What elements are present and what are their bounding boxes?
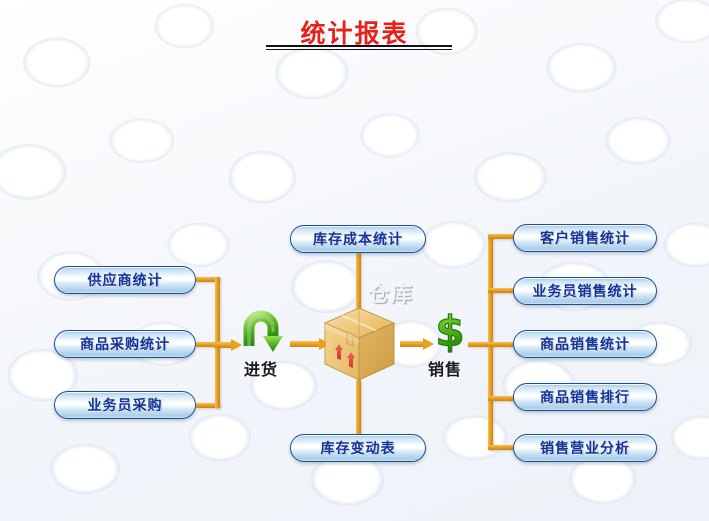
title-underline-rule xyxy=(266,45,452,50)
button-salesperson-purchase[interactable]: 业务员采购 xyxy=(54,391,196,419)
connector-warehouse-to-bottom xyxy=(356,380,361,436)
button-label: 库存变动表 xyxy=(321,438,396,458)
button-inventory-cost-statistics[interactable]: 库存成本统计 xyxy=(290,225,426,253)
inbound-caption: 进货 xyxy=(244,356,278,380)
connector-right-stub-3 xyxy=(488,342,514,347)
green-curved-arrow-icon xyxy=(243,310,291,356)
button-label: 商品销售统计 xyxy=(540,334,630,354)
button-label: 业务员销售统计 xyxy=(533,281,638,301)
button-product-purchase-statistics[interactable]: 商品采购统计 xyxy=(54,330,196,358)
button-sales-business-analysis[interactable]: 销售营业分析 xyxy=(513,434,657,462)
button-customer-sales-statistics[interactable]: 客户销售统计 xyxy=(513,224,657,252)
connector-right-stub-1 xyxy=(488,234,514,239)
button-supplier-statistics[interactable]: 供应商统计 xyxy=(54,266,196,294)
button-salesperson-sales-statistics[interactable]: 业务员销售统计 xyxy=(513,277,657,305)
button-label: 商品销售排行 xyxy=(540,387,630,407)
button-label: 业务员采购 xyxy=(88,395,163,415)
button-label: 供应商统计 xyxy=(88,270,163,290)
button-label: 库存成本统计 xyxy=(313,229,403,249)
button-label: 客户销售统计 xyxy=(540,228,630,248)
connector-right-stub-2 xyxy=(488,288,514,293)
button-product-sales-statistics[interactable]: 商品销售统计 xyxy=(513,330,657,358)
arrow-left-to-inbound-icon xyxy=(214,339,242,351)
button-label: 销售营业分析 xyxy=(540,438,630,458)
statistics-report-diagram: 统计报表 供应商统计 商品采购统计 业务员采购 xyxy=(0,0,709,521)
green-dollar-sign-icon: $ xyxy=(428,310,472,356)
button-inventory-change-table[interactable]: 库存变动表 xyxy=(290,434,426,462)
outbound-caption: 销售 xyxy=(428,356,462,380)
button-product-sales-ranking[interactable]: 商品销售排行 xyxy=(513,383,657,411)
connector-top-to-warehouse xyxy=(356,251,361,310)
connector-right-stub-5 xyxy=(488,445,514,450)
warehouse-label: 仓库 xyxy=(368,278,414,308)
cardboard-box-icon xyxy=(322,306,398,384)
button-label: 商品采购统计 xyxy=(80,334,170,354)
connector-right-stub-4 xyxy=(488,396,514,401)
svg-text:$: $ xyxy=(435,310,464,356)
